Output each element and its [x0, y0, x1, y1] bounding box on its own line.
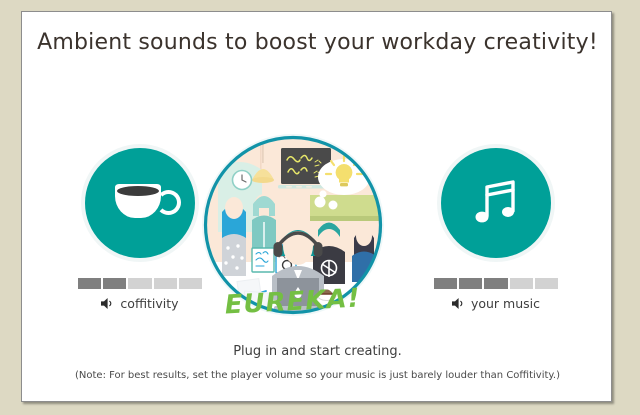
your-music-disc[interactable]	[441, 148, 551, 258]
footer-primary-text: Plug in and start creating.	[22, 344, 613, 359]
coffitivity-disc[interactable]	[85, 148, 195, 258]
music-note-icon	[473, 178, 521, 232]
page-title: Ambient sounds to boost your workday cre…	[22, 30, 613, 55]
volume-segment[interactable]	[535, 278, 558, 289]
coffitivity-label: coffitivity	[120, 296, 178, 311]
coffitivity-volume-row: coffitivity	[70, 296, 210, 311]
your-music-label: your music	[471, 296, 540, 311]
your-music-volume-slider[interactable]	[434, 278, 558, 289]
speaker-icon[interactable]	[452, 298, 465, 309]
coffee-cup-icon	[113, 184, 173, 226]
svg-text:EUREKA!: EUREKA!	[224, 283, 361, 320]
your-music-volume-row: your music	[426, 296, 566, 311]
volume-segment[interactable]	[128, 278, 151, 289]
speaker-icon[interactable]	[101, 298, 114, 309]
footer-note-text: (Note: For best results, set the player …	[22, 370, 613, 381]
volume-segment[interactable]	[484, 278, 507, 289]
volume-segment[interactable]	[154, 278, 177, 289]
eureka-caption: EUREKA!	[224, 283, 361, 320]
volume-segment[interactable]	[78, 278, 101, 289]
cafe-coworking-illustration: EUREKA!	[198, 130, 388, 320]
your-music-control[interactable]: your music	[426, 148, 566, 311]
volume-segment[interactable]	[103, 278, 126, 289]
coffitivity-volume-slider[interactable]	[78, 278, 202, 289]
coffitivity-control[interactable]: coffitivity	[70, 148, 210, 311]
volume-segment[interactable]	[434, 278, 457, 289]
volume-segment[interactable]	[459, 278, 482, 289]
main-card: Ambient sounds to boost your workday cre…	[21, 11, 612, 402]
volume-segment[interactable]	[510, 278, 533, 289]
